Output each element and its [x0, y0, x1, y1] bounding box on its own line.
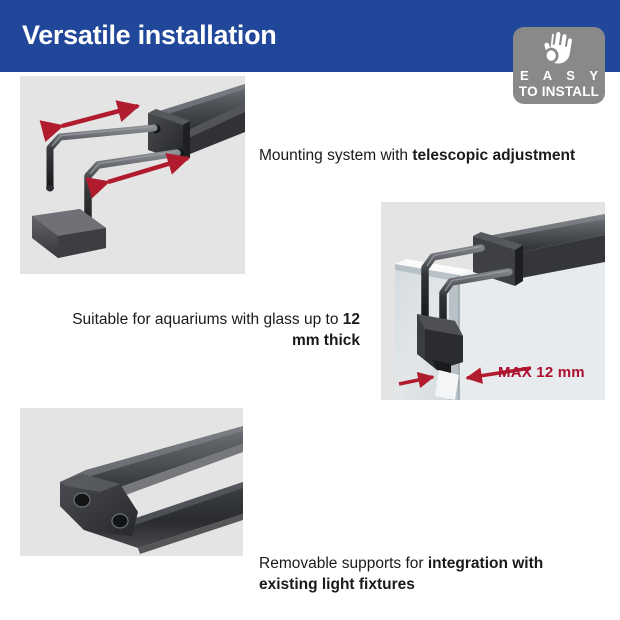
telescopic-bracket-illustration: [20, 76, 245, 274]
page-title: Versatile installation: [22, 20, 277, 51]
caption-glass: Suitable for aquariums with glass up to …: [60, 310, 360, 352]
light-bar-end-photo: [20, 408, 243, 556]
light-bar-end-illustration: [20, 408, 243, 556]
caption-telescopic-bold: telescopic adjustment: [412, 147, 575, 164]
badge-install-label: TO INSTALL: [513, 85, 605, 99]
caption-supports-plain: Removable supports for: [259, 555, 428, 572]
caption-supports: Removable supports for integration with …: [259, 554, 594, 596]
caption-glass-plain: Suitable for aquariums with glass up to: [72, 311, 343, 328]
badge-easy-label: E A S Y: [513, 69, 605, 82]
max-thickness-label: MAX 12 mm: [498, 364, 585, 381]
adjust-arrow-upper: [62, 106, 138, 126]
telescopic-bracket-photo: [20, 76, 245, 274]
caption-telescopic-plain: Mounting system with: [259, 147, 412, 164]
caption-telescopic: Mounting system with telescopic adjustme…: [259, 146, 589, 167]
ok-hand-icon: [538, 31, 580, 69]
easy-to-install-badge: E A S Y TO INSTALL: [513, 27, 605, 104]
